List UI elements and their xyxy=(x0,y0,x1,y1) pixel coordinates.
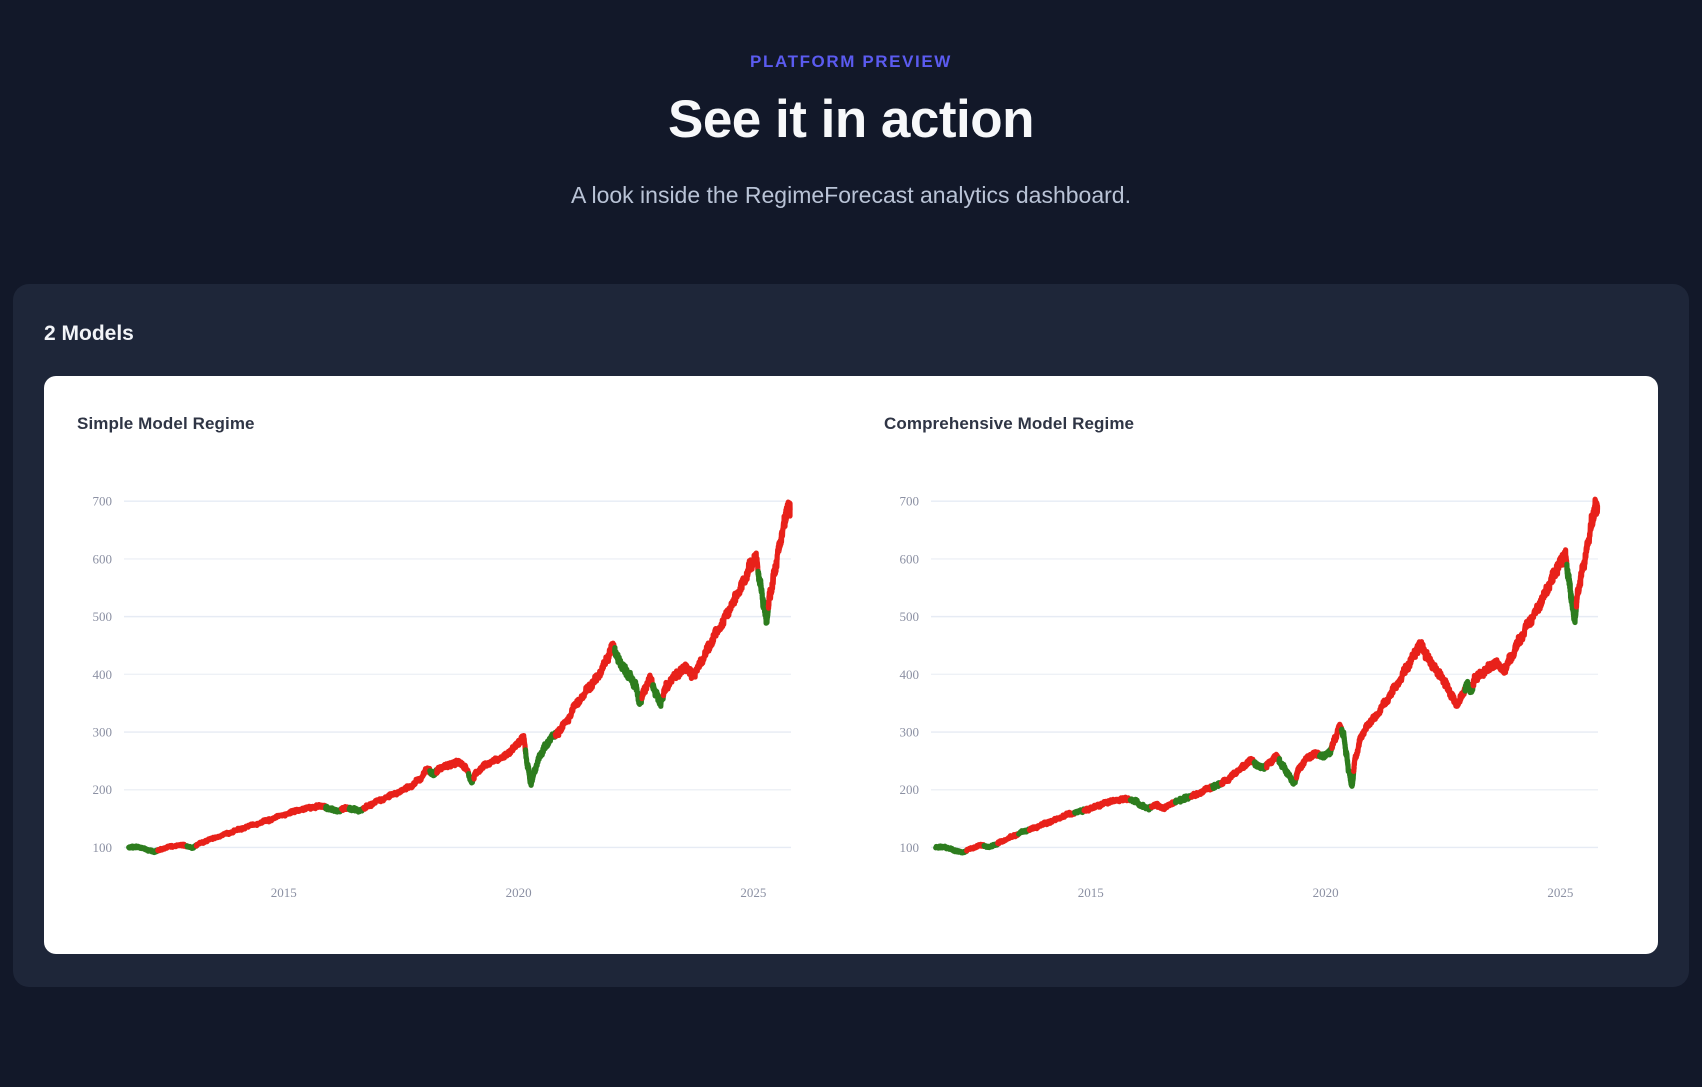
x-axis-tick: 2015 xyxy=(1078,885,1104,900)
y-axis-tick: 500 xyxy=(93,609,113,624)
bear-regime-segment xyxy=(1084,797,1131,811)
y-axis-tick: 100 xyxy=(93,840,113,855)
regime-chart-comprehensive-model[interactable]: 100200300400500600700201520202025 xyxy=(869,471,1614,921)
bull-regime-segment xyxy=(1341,729,1353,786)
bull-regime-segment xyxy=(1279,759,1297,785)
y-axis-tick: 200 xyxy=(900,782,920,797)
x-axis-tick: 2020 xyxy=(506,885,532,900)
chart-cell-simple-model: Simple Model Regime 10020030040050060070… xyxy=(44,376,851,954)
preview-page: PLATFORM PREVIEW See it in action A look… xyxy=(0,0,1702,1087)
bear-regime-segment xyxy=(555,643,615,736)
y-axis-tick: 600 xyxy=(900,551,920,566)
bear-regime-segment xyxy=(1152,801,1176,809)
y-axis-tick: 400 xyxy=(93,667,113,682)
x-axis-tick: 2025 xyxy=(1547,885,1573,900)
bear-regime-segment xyxy=(474,736,526,779)
section-header: PLATFORM PREVIEW See it in action A look… xyxy=(0,0,1702,209)
bear-regime-segment xyxy=(1222,759,1255,785)
charts-row: Simple Model Regime 10020030040050060070… xyxy=(44,376,1658,954)
bear-regime-segment xyxy=(1297,752,1320,778)
bear-regime-segment xyxy=(768,502,790,608)
y-axis-tick: 500 xyxy=(900,609,920,624)
bear-regime-segment xyxy=(998,834,1019,844)
page-subtitle: A look inside the RegimeForecast analyti… xyxy=(0,182,1702,209)
dashboard-card: 2 Models Simple Model Regime 10020030040… xyxy=(13,284,1689,987)
y-axis-tick: 200 xyxy=(93,782,113,797)
models-count-label: 2 Models xyxy=(44,322,134,346)
x-axis-tick: 2015 xyxy=(271,885,297,900)
regime-chart-simple-model[interactable]: 100200300400500600700201520202025 xyxy=(62,471,807,921)
x-axis-tick: 2025 xyxy=(740,885,766,900)
y-axis-tick: 700 xyxy=(900,494,920,509)
bear-regime-segment xyxy=(1191,786,1212,798)
bear-regime-segment xyxy=(158,844,188,851)
bear-regime-segment xyxy=(1473,550,1567,686)
y-axis-tick: 300 xyxy=(900,725,920,740)
y-axis-tick: 400 xyxy=(900,667,920,682)
bear-regime-segment xyxy=(1354,642,1466,772)
section-eyebrow: PLATFORM PREVIEW xyxy=(0,52,1702,72)
bear-regime-segment xyxy=(197,805,327,846)
y-axis-tick: 700 xyxy=(93,494,113,509)
chart-cell-comprehensive-model: Comprehensive Model Regime 1002003004005… xyxy=(851,376,1658,954)
charts-panel: Simple Model Regime 10020030040050060070… xyxy=(44,376,1658,954)
bull-regime-segment xyxy=(526,733,556,786)
bear-regime-segment xyxy=(364,768,430,809)
y-axis-tick: 600 xyxy=(93,551,113,566)
bull-regime-segment xyxy=(1130,799,1151,810)
chart-title: Comprehensive Model Regime xyxy=(884,414,1134,434)
x-axis-tick: 2020 xyxy=(1313,885,1339,900)
bear-regime-segment xyxy=(1029,812,1075,830)
y-axis-tick: 100 xyxy=(900,840,920,855)
bear-regime-segment xyxy=(1576,499,1597,607)
chart-title: Simple Model Regime xyxy=(77,414,255,434)
bear-regime-segment xyxy=(437,760,469,775)
page-title: See it in action xyxy=(0,92,1702,148)
y-axis-tick: 300 xyxy=(93,725,113,740)
bull-regime-segment xyxy=(615,648,642,705)
